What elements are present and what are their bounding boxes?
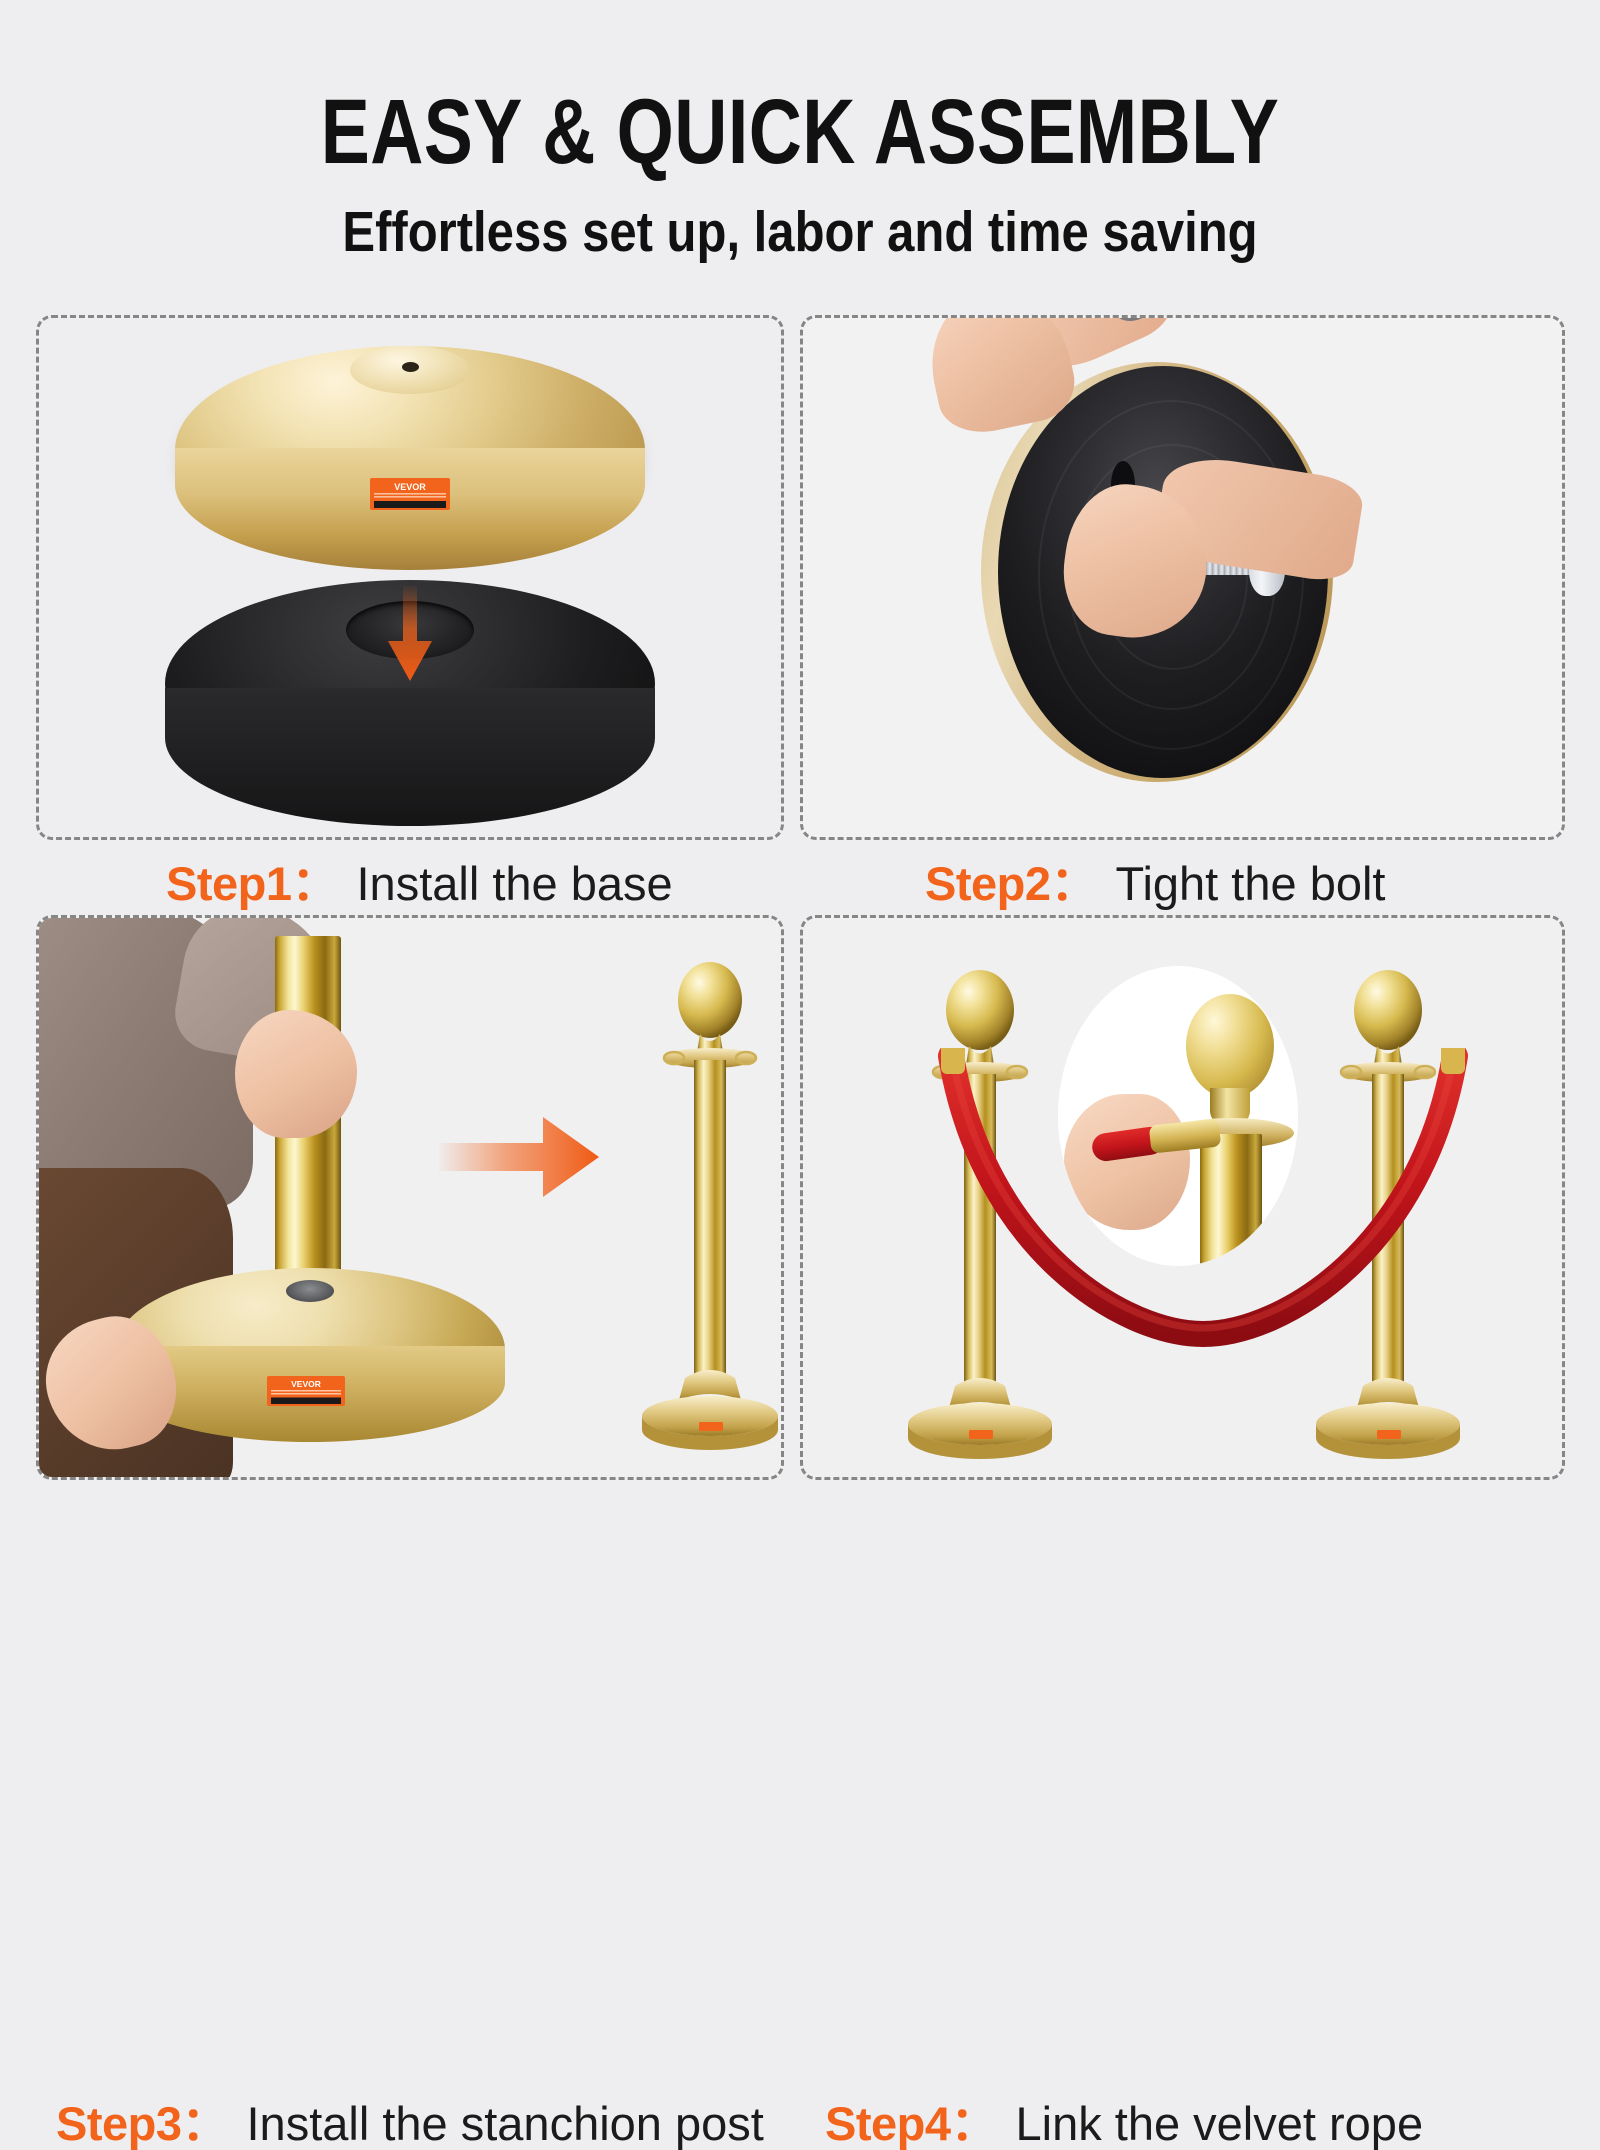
step1-label: Step1 — [166, 857, 292, 910]
vevor-badge: VEVOR — [267, 1376, 345, 1406]
inset-hand — [1064, 1094, 1190, 1230]
step1-illustration-panel: VEVOR — [36, 315, 784, 840]
page-subtitle: Effortless set up, labor and time saving — [112, 204, 1488, 261]
svg-text:VEVOR: VEVOR — [291, 1379, 321, 1389]
black-weighted-base-rim — [165, 688, 655, 826]
step3-label: Step3 — [56, 2097, 182, 2150]
step3-colon: ： — [182, 2097, 247, 2150]
inset-post — [1200, 1134, 1262, 1266]
step4-description: Link the velvet rope — [1016, 2097, 1424, 2150]
vevor-badge: VEVOR — [370, 478, 450, 510]
step4-label: Step4 — [825, 2097, 951, 2150]
page-title: EASY & QUICK ASSEMBLY — [160, 86, 1440, 178]
step-cell-4: Step4：Link the velvet rope — [800, 915, 1565, 1480]
step2-illustration-panel — [800, 315, 1565, 840]
hand-gripping-post — [235, 1010, 357, 1138]
steps-grid: VEVOR — [0, 305, 1600, 1585]
step3-description: Install the stanchion post — [247, 2097, 764, 2150]
step3-illustration-panel: VEVOR — [36, 915, 784, 1480]
gold-base-bolt-hole — [402, 362, 419, 372]
header: EASY & QUICK ASSEMBLY Effortless set up,… — [0, 0, 1600, 261]
step-cell-1: VEVOR — [36, 315, 784, 840]
step1-caption: Step1：Install the base — [36, 860, 914, 907]
completed-stanchion — [635, 954, 784, 1454]
clip-detail-inset — [1058, 966, 1298, 1266]
arrow-down-icon — [388, 586, 432, 681]
step1-description: Install the base — [357, 857, 673, 910]
step2-label: Step2 — [925, 857, 1051, 910]
step3-caption: Step3：Install the stanchion post — [36, 2100, 804, 2147]
step4-illustration-panel — [800, 915, 1565, 1480]
svg-text:VEVOR: VEVOR — [394, 482, 426, 492]
step1-colon: ： — [292, 857, 357, 910]
step-cell-2: Step2：Tight the bolt — [800, 315, 1565, 840]
base-post-socket — [286, 1280, 334, 1302]
step2-description: Tight the bolt — [1116, 857, 1386, 910]
arrow-right-icon — [439, 1103, 599, 1211]
step2-caption: Step2：Tight the bolt — [800, 860, 1600, 907]
step-cell-3: VEVOR — [36, 915, 784, 1480]
inset-ball-finial — [1186, 994, 1274, 1098]
step4-caption: Step4：Link the velvet rope — [800, 2100, 1590, 2147]
step2-colon: ： — [1051, 857, 1116, 910]
step4-colon: ： — [951, 2097, 1016, 2150]
